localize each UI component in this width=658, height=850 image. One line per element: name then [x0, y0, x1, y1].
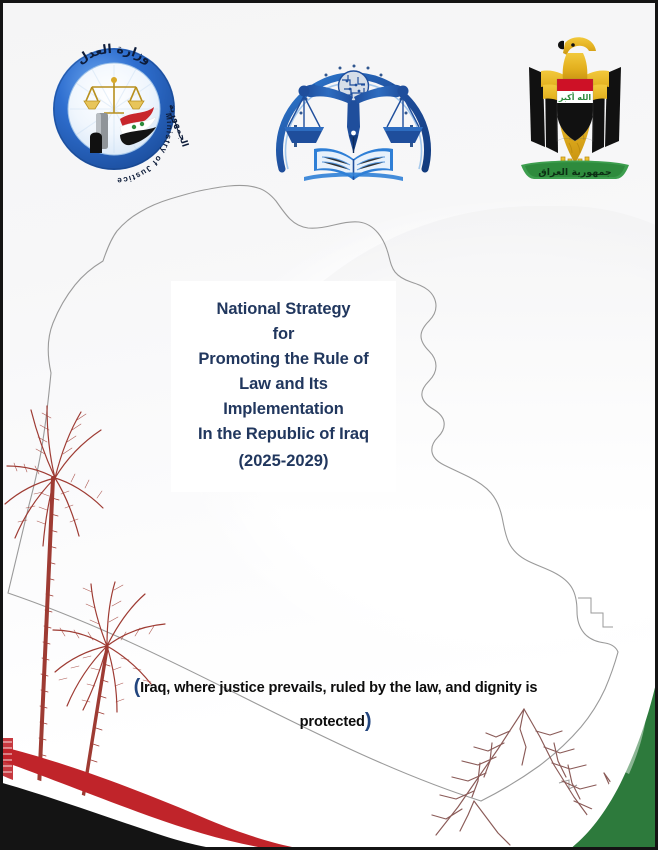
shield-arabic-text: الله أكبر — [558, 92, 592, 102]
tagline-text: Iraq, where justice prevails, ruled by t… — [140, 680, 537, 730]
iraq-coat-of-arms: الله أكبر جمهورية العراق — [505, 29, 645, 189]
cover-page: وزارة العدل Ministry of Justice الجمهوري… — [0, 0, 658, 850]
title-line-4: Law and Its — [181, 372, 386, 397]
ministry-of-justice-logo: وزارة العدل Ministry of Justice الجمهوري… — [36, 31, 191, 181]
title-line-5: Implementation — [181, 397, 386, 422]
tagline: (Iraq, where justice prevails, ruled by … — [108, 671, 563, 739]
title-line-3: Promoting the Rule of — [181, 347, 386, 372]
title-line-6: In the Republic of Iraq — [181, 422, 386, 447]
title-line-1: National Strategy — [181, 297, 386, 322]
title-years: (2025-2029) — [181, 447, 386, 474]
title-line-2: for — [181, 322, 386, 347]
title-card: National Strategy for Promoting the Rule… — [171, 281, 396, 492]
flag-ribbon-decor — [0, 738, 359, 850]
emblem-row: وزارة العدل Ministry of Justice الجمهوري… — [3, 21, 655, 181]
scroll-arabic-text: جمهورية العراق — [538, 167, 611, 178]
tagline-close-paren: ) — [365, 710, 372, 732]
rule-of-law-emblem — [266, 41, 441, 186]
